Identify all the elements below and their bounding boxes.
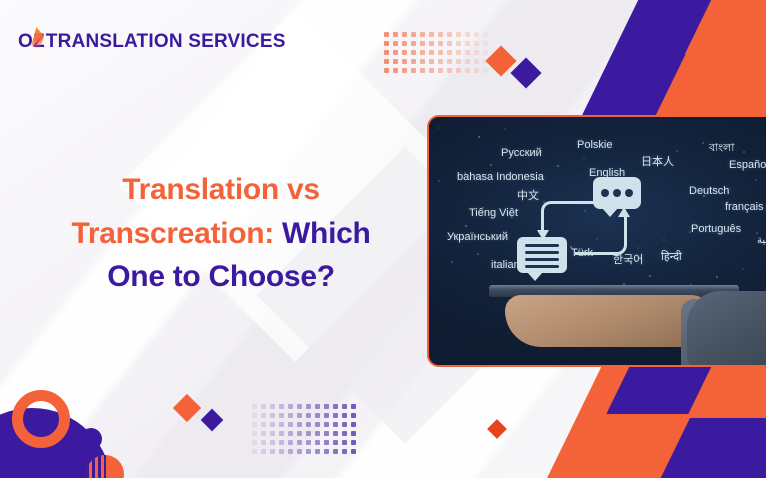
dot-grid-dot [288,449,293,454]
dot-grid-dot [315,431,320,436]
dot-grid-dot [297,422,302,427]
dot-grid-purple [250,402,358,456]
dot-grid-dot [315,422,320,427]
dot-grid-dot [297,449,302,454]
dot-grid-dot [393,32,398,37]
dot-grid-dot [429,41,434,46]
dot-grid-dot [456,32,461,37]
dot-grid-dot [252,449,257,454]
star-speck [663,239,665,241]
dot-grid-dot [465,32,470,37]
chat-bubble-dots-icon [593,177,641,209]
star-speck [451,261,453,263]
dot-grid-dot [474,68,479,73]
star-speck [756,232,758,234]
dot-grid-dot [333,404,338,409]
headline-line-2-purple: Which [274,217,371,250]
star-speck [478,136,480,138]
dot-grid-dot [315,449,320,454]
headline-line-2: Transcreation: Which [16,212,426,256]
language-label: العربية [757,235,766,246]
dot-grid-dot [438,68,443,73]
dot-grid-dot [324,422,329,427]
dot-grid-dot [306,413,311,418]
dot-grid-dot [402,59,407,64]
dot-grid-dot [411,59,416,64]
dot-grid-dot [402,32,407,37]
dot-grid-dot [306,440,311,445]
language-label: हिन्दी [661,249,682,264]
headline-line-1: Translation vs [16,168,426,212]
dot-grid-dot [315,413,320,418]
dot-grid-dot [429,50,434,55]
dot-grid-dot [279,449,284,454]
dot-grid-dot [447,59,452,64]
star-speck [716,276,718,278]
dot-grid-dot [351,413,356,418]
dot-grid-row [382,57,490,66]
dot-grid-dot [315,440,320,445]
dot-grid-dot [393,59,398,64]
dot-grid-dot [420,59,425,64]
language-label: Polskie [577,139,612,151]
language-label: français [725,201,764,213]
language-label: Deutsch [689,185,729,197]
dot-grid-dot [411,41,416,46]
star-speck [755,179,757,181]
headline-line-3: One to Choose? [16,255,426,299]
dot-grid-dot [420,41,425,46]
dot-grid-dot [252,440,257,445]
sleeve-graphic [687,291,766,367]
dot-grid-row [382,39,490,48]
dot-grid-dot [438,41,443,46]
dot-grid-dot [384,50,389,55]
dot-grid-dot [333,431,338,436]
language-label: Русский [501,147,542,159]
dot-grid-dot [270,449,275,454]
dot-grid-dot [342,449,347,454]
dot-grid-dot [456,68,461,73]
dot-grid-dot [288,422,293,427]
dot-grid-dot [297,404,302,409]
language-label: বাংলা [709,139,734,158]
dot-grid-dot [261,449,266,454]
dot-grid-dot [351,422,356,427]
dot-grid-dot [306,449,311,454]
arrow-up-icon [575,217,627,255]
dot-grid-dot [333,449,338,454]
headline-line-2-orange: Transcreation: [71,217,274,250]
dot-grid-dot [324,404,329,409]
dot-grid-dot [351,449,356,454]
dot-grid-dot [411,50,416,55]
dot-grid-dot [393,41,398,46]
dot-grid-dot [420,50,425,55]
dot-grid-row [382,66,490,75]
star-speck [742,268,744,270]
dot-grid-dot [297,431,302,436]
dot-grid-dot [483,68,488,73]
dot-grid-dot [429,68,434,73]
dot-grid-dot [393,68,398,73]
dot-grid-row [250,420,358,429]
dot-grid-dot [393,50,398,55]
dot-grid-dot [438,32,443,37]
language-label: 日本人 [641,153,674,169]
dot-grid-dot [384,41,389,46]
dot-grid-dot [447,32,452,37]
dot-grid-row [250,429,358,438]
dot-grid-dot [351,431,356,436]
language-label: Український [447,231,508,243]
dot-grid-dot [342,404,347,409]
dot-grid-dot [261,404,266,409]
dot-grid-dot [465,68,470,73]
dot-grid-dot [429,32,434,37]
star-speck [702,142,704,144]
dot-grid-dot [297,413,302,418]
dot-grid-dot [333,413,338,418]
dot-grid-dot [438,50,443,55]
dot-grid-dot [270,404,275,409]
dot-grid-dot [270,440,275,445]
dot-grid-dot [447,50,452,55]
dot-grid-dot [261,413,266,418]
star-speck [438,180,440,182]
dot-grid-dot [474,32,479,37]
dot-grid-dot [483,32,488,37]
dot-grid-dot [465,50,470,55]
dot-grid-row [382,48,490,57]
dot-grid-dot [465,59,470,64]
dot-grid-dot [456,41,461,46]
dot-grid-dot [447,68,452,73]
dot-grid-dot [429,59,434,64]
dot-grid-dot [483,59,488,64]
dot-grid-dot [252,413,257,418]
dot-grid-dot [474,41,479,46]
star-speck [583,157,585,159]
language-label: Español [729,159,766,171]
dot-grid-dot [402,50,407,55]
language-label: Tiếng Việt [469,207,518,219]
dot-grid-dot [288,431,293,436]
logo-oz-mark: OZ [18,31,45,53]
purple-stripes [86,455,106,478]
dot-grid-orange [382,30,490,75]
dot-grid-dot [324,440,329,445]
dot-grid-row [250,411,358,420]
dot-grid-dot [261,431,266,436]
dot-grid-dot [279,413,284,418]
promo-banner: OZ TRANSLATION SERVICES Translation vs T… [0,0,766,478]
brand-logo[interactable]: OZ TRANSLATION SERVICES [18,31,286,53]
star-speck [465,225,467,227]
dot-grid-dot [420,32,425,37]
dot-grid-dot [465,41,470,46]
dot-grid-dot [438,59,443,64]
dot-grid-dot [342,422,347,427]
language-label: bahasa Indonesia [457,171,544,183]
dot-grid-dot [279,404,284,409]
dot-grid-dot [270,431,275,436]
dot-grid-dot [279,431,284,436]
dot-grid-dot [456,50,461,55]
language-label: 中文 [517,187,539,203]
dot-grid-dot [456,59,461,64]
dot-grid-dot [270,413,275,418]
star-speck [676,150,678,152]
star-speck [637,247,639,249]
dot-grid-dot [297,440,302,445]
dot-grid-dot [384,68,389,73]
dot-grid-row [250,438,358,447]
star-speck [557,165,559,167]
star-speck [649,275,651,277]
dot-grid-dot [483,50,488,55]
language-label: Português [691,223,741,235]
dot-grid-dot [402,41,407,46]
dot-grid-dot [384,32,389,37]
dot-grid-dot [342,413,347,418]
dot-grid-dot [333,422,338,427]
page-title: Translation vs Transcreation: Which One … [16,168,426,299]
dot-grid-dot [342,440,347,445]
dot-grid-dot [474,59,479,64]
bottom-left-orange-ring [12,390,70,448]
hero-image: РусскийPolskieবাংলা日本人EspañolEnglishbaha… [427,115,766,367]
dot-grid-dot [252,404,257,409]
dot-grid-dot [261,440,266,445]
dot-grid-dot [474,50,479,55]
dot-grid-dot [402,68,407,73]
logo-wordmark: TRANSLATION SERVICES [46,31,286,53]
dot-grid-dot [315,404,320,409]
dot-grid-dot [288,413,293,418]
dot-grid-dot [306,422,311,427]
dot-grid-dot [306,404,311,409]
dot-grid-dot [351,440,356,445]
star-speck [490,164,492,166]
dot-grid-dot [324,431,329,436]
dot-grid-dot [252,431,257,436]
dot-grid-dot [279,440,284,445]
dot-grid-dot [351,404,356,409]
dot-grid-dot [270,422,275,427]
dot-grid-dot [384,59,389,64]
dot-grid-dot [261,422,266,427]
dot-grid-row [250,447,358,456]
dot-grid-dot [324,413,329,418]
dot-grid-dot [483,41,488,46]
star-speck [743,151,745,153]
dot-grid-dot [342,431,347,436]
dot-grid-dot [324,449,329,454]
dot-grid-dot [420,68,425,73]
dot-grid-dot [447,41,452,46]
dot-grid-dot [252,422,257,427]
dot-grid-dot [288,404,293,409]
dot-grid-dot [411,32,416,37]
star-speck [504,128,506,130]
dot-grid-row [250,402,358,411]
star-speck [437,127,439,129]
bottom-left-purple-dot [80,428,102,450]
dot-grid-dot [306,431,311,436]
dot-grid-dot [333,440,338,445]
dot-grid-dot [411,68,416,73]
dot-grid-row [382,30,490,39]
star-speck [477,253,479,255]
chat-bubble-lines-icon [517,237,567,273]
dot-grid-dot [288,440,293,445]
dot-grid-dot [279,422,284,427]
